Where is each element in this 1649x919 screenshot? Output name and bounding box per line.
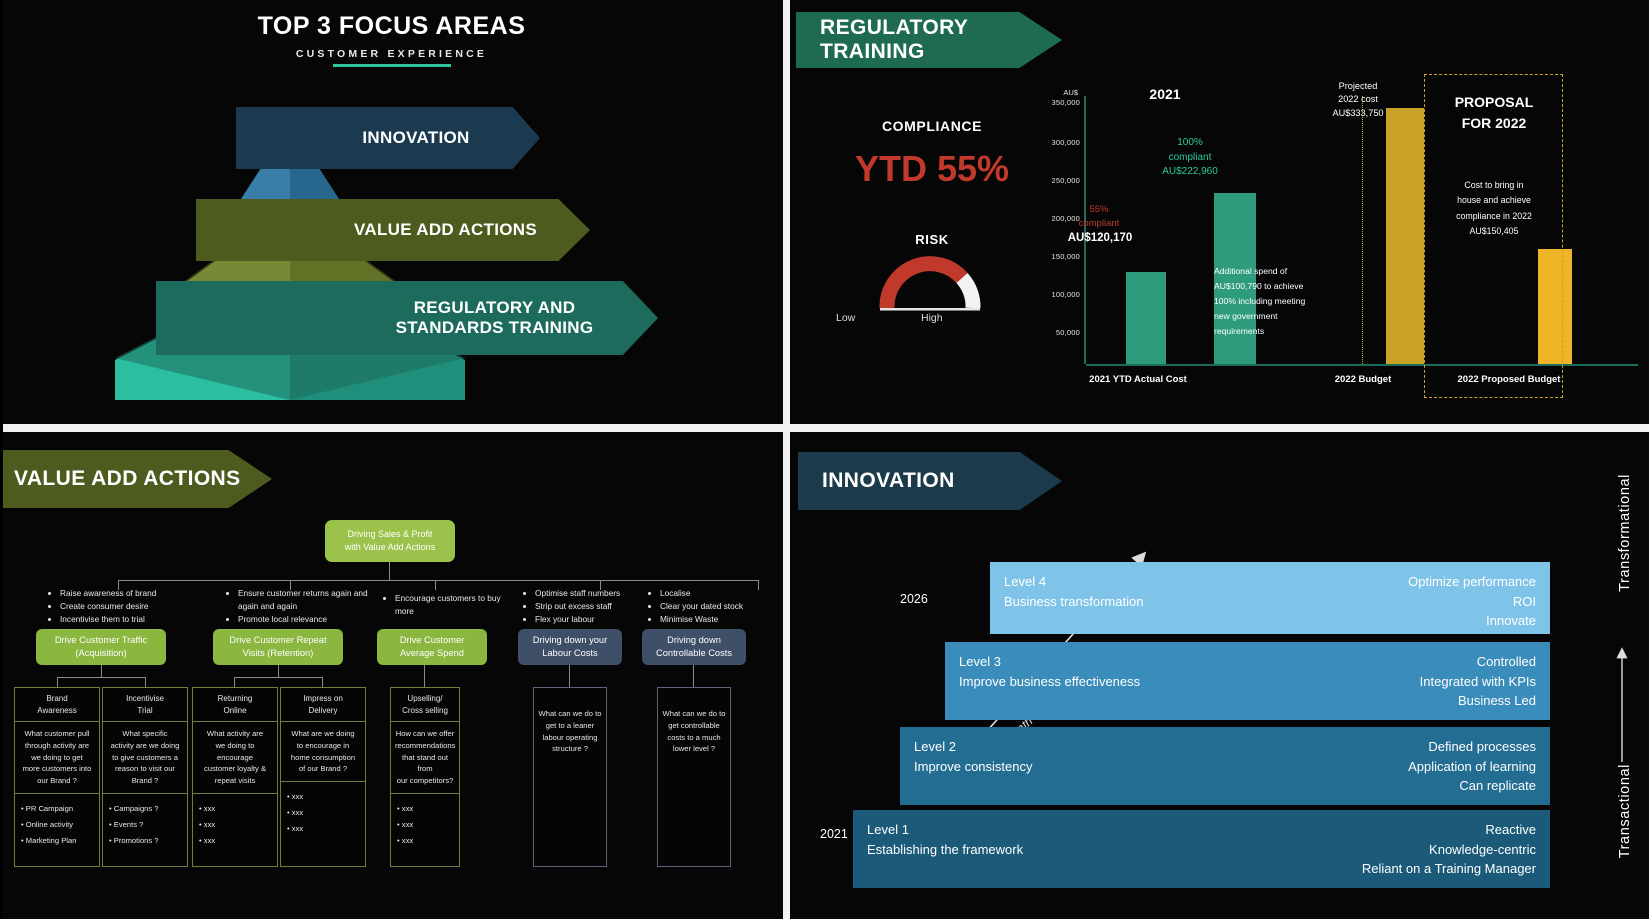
branch-3-bullet-0: Encourage customers to buy more [395,592,505,618]
gauge-high-label: High [921,312,943,324]
pyramid-label-innovation: INNOVATION [236,107,540,169]
category-driving-down-controllable[interactable]: Driving down Controllable Costs [642,629,746,665]
slide-board: TOP 3 FOCUS AREAS CUSTOMER EXPERIENCE R [0,0,1649,919]
category-drive-customer-traffic-label: Drive Customer Traffic (Acquisition) [55,634,147,660]
category-driving-down-labour-label: Driving down your Labour Costs [533,634,607,660]
y-tick-100000: 100,000 [1036,290,1080,299]
maturity-level-2-attr: Defined processes [1408,737,1536,757]
category-drive-repeat-visits[interactable]: Drive Customer Repeat Visits (Retention) [213,629,343,665]
category-drive-average-spend-label: Drive Customer Average Spend [400,634,465,660]
maturity-level-4-desc: Business transformation [1004,592,1143,612]
leaf-labour-question-text: What can we do to get to a leaner labour… [534,688,606,761]
y-axis-unit: AU$ [1063,88,1078,97]
quadrant-innovation: INNOVATION Maturity Path 2026 Level 4 Bu… [790,432,1649,919]
maturity-level-1-attr: Knowledge-centric [1362,840,1536,860]
note-projected-2022: Projected 2022 cost AU$333,750 [1320,80,1396,120]
connector-b3-stem [424,665,425,687]
gauge-low-label: Low [836,312,855,324]
category-drive-customer-traffic[interactable]: Drive Customer Traffic (Acquisition) [36,629,166,665]
maturity-level-3-right: Controlled Integrated with KPIs Business… [1420,652,1536,710]
branch-1-bullet-1: Create consumer desire [60,600,200,613]
category-drive-average-spend[interactable]: Drive Customer Average Spend [377,629,487,665]
branch-3-bullets: Encourage customers to buy more [385,592,505,618]
maturity-level-4-right: Optimize performance ROI Innovate [1408,572,1536,624]
branch-4-bullet-2: Flex your labour [535,613,645,626]
proposal-title: PROPOSAL FOR 2022 [1430,92,1558,134]
gutter-vertical [783,0,790,919]
leaf-item: xxx [287,821,359,837]
leaf-returning-online-items: xxx xxx xxx [193,794,277,856]
leaf-returning-online[interactable]: Returning Online What activity are we do… [192,687,278,867]
leaf-item: xxx [397,817,453,833]
branch-2-bullet-0: Ensure customer returns again and again … [238,587,373,613]
maturity-level-3[interactable]: Level 3 Improve business effectiveness C… [945,642,1550,720]
leaf-upselling-head: Upselling/ Cross selling [391,688,459,722]
maturity-level-1-name: Level 1 [867,820,1023,840]
axis-arrow-icon [1615,644,1629,764]
tree-root-node: Driving Sales & Profit with Value Add Ac… [325,520,455,562]
leaf-impress-on-delivery-head: Impress on Delivery [281,688,365,722]
maturity-level-2-left: Level 2 Improve consistency [914,737,1033,795]
category-driving-down-labour[interactable]: Driving down your Labour Costs [518,629,622,665]
branch-4-bullet-0: Optimise staff numbers [535,587,645,600]
pyramid-diagram: REGULATORY AND STANDARDS TRAINING VALUE … [0,95,783,424]
x-label-2021-actual: 2021 YTD Actual Cost [1058,374,1218,385]
maturity-level-1-right: Reactive Knowledge-centric Reliant on a … [1362,820,1536,878]
note-additional-spend: Additional spend of AU$100,790 to achiev… [1214,264,1334,339]
risk-gauge [830,252,1030,316]
leaf-item: xxx [397,833,453,849]
regulatory-banner-label: REGULATORY TRAINING [820,16,1062,64]
leaf-returning-online-question: What activity are we doing to encourage … [193,722,277,794]
gutter-horizontal [0,424,1649,432]
connector-spine [118,580,758,581]
connector-b1-l [57,677,58,687]
page-title: TOP 3 FOCUS AREAS [0,12,783,41]
maturity-level-1-desc: Establishing the framework [867,840,1023,860]
year-2026: 2026 [900,592,928,606]
chart-year-header: 2021 [1122,84,1208,104]
quadrant-regulatory-training: REGULATORY TRAINING COMPLIANCE YTD 55% R… [790,0,1649,424]
y-tick-250000: 250,000 [1036,176,1080,185]
category-driving-down-controllable-label: Driving down Controllable Costs [656,634,732,660]
leaf-item: xxx [199,801,271,817]
connector-b1-r [145,677,146,687]
tree-root-label: Driving Sales & Profit with Value Add Ac… [345,528,435,554]
leaf-incentivise-trial-items: Campaigns ? Events ? Promotions ? [103,794,187,856]
note-55-value: AU$120,170 [1052,230,1148,247]
branch-5-bullet-1: Clear your dated stock [660,600,775,613]
pyramid-label-regulatory: REGULATORY AND STANDARDS TRAINING [156,281,658,355]
branch-1-bullet-2: Incentivise them to trial [60,613,200,626]
axis-label-transformational: Transformational [1617,474,1633,592]
leaf-upselling-question: How can we offer recommendations that st… [391,722,459,794]
leaf-item: xxx [199,817,271,833]
bar-2021-actual [1126,272,1166,364]
year-2021: 2021 [820,827,848,841]
maturity-level-3-attr: Controlled [1420,652,1536,672]
page-subtitle: CUSTOMER EXPERIENCE [0,48,783,60]
branch-2-bullets: Ensure customer returns again and again … [228,587,373,626]
maturity-level-2[interactable]: Level 2 Improve consistency Defined proc… [900,727,1550,805]
leaf-item: xxx [287,789,359,805]
quadrant-value-add-actions: VALUE ADD ACTIONS Driving Sales & Profit… [0,432,783,919]
maturity-level-3-name: Level 3 [959,652,1140,672]
maturity-level-3-left: Level 3 Improve business effectiveness [959,652,1140,710]
category-drive-repeat-visits-label: Drive Customer Repeat Visits (Retention) [229,634,326,660]
leaf-item: Marketing Plan [21,833,93,849]
note-100-compliant: 100% compliant AU$222,960 [1146,136,1234,180]
chart-divider-1 [1362,96,1363,364]
branch-2-bullet-1: Promote local relevance [238,613,373,626]
risk-label: RISK [832,232,1032,247]
x-label-2022-budget: 2022 Budget [1308,374,1418,385]
maturity-level-1-left: Level 1 Establishing the framework [867,820,1023,878]
y-tick-150000: 150,000 [1036,252,1080,261]
maturity-level-2-name: Level 2 [914,737,1033,757]
proposal-caption: Cost to bring in house and achieve compl… [1430,178,1558,240]
value-add-tree: Driving Sales & Profit with Value Add Ac… [0,432,783,919]
maturity-level-2-right: Defined processes Application of learnin… [1408,737,1536,795]
compliance-label: COMPLIANCE [832,118,1032,134]
leaf-item: xxx [199,833,271,849]
branch-1-bullets: Raise awareness of brand Create consumer… [50,587,200,626]
pyramid-label-regulatory-text: REGULATORY AND STANDARDS TRAINING [396,298,594,338]
leaf-item: Events ? [109,817,181,833]
leaf-brand-awareness-head: Brand Awareness [15,688,99,722]
maturity-level-4-attr: Innovate [1408,611,1536,631]
maturity-level-1-attr: Reactive [1362,820,1536,840]
maturity-level-3-attr: Integrated with KPIs [1420,672,1536,692]
connector-b2-l [234,677,235,687]
leaf-item: Promotions ? [109,833,181,849]
leaf-upselling[interactable]: Upselling/ Cross selling How can we offe… [390,687,460,867]
branch-5-bullets: Localise Clear your dated stock Minimise… [650,587,775,626]
y-tick-300000: 300,000 [1036,138,1080,147]
maturity-level-2-attr: Can replicate [1408,776,1536,796]
branch-4-bullet-1: Strip out excess staff [535,600,645,613]
maturity-level-4-attr: ROI [1408,592,1536,612]
maturity-level-4-name: Level 4 [1004,572,1143,592]
maturity-level-4-left: Level 4 Business transformation [1004,572,1143,624]
leaf-item: PR Campaign [21,801,93,817]
maturity-level-2-attr: Application of learning [1408,757,1536,777]
connector-b5-stem [693,665,694,687]
leaf-incentivise-trial-question: What specific activity are we doing to g… [103,722,187,794]
connector-b1-stem [101,665,102,677]
regulatory-banner: REGULATORY TRAINING [796,12,1062,68]
ytd-value: YTD 55% [812,148,1052,190]
connector-b1-bar [57,677,145,678]
leaf-controllable-question-text: What can we do to get controllable costs… [658,688,730,761]
leaf-item: Online activity [21,817,93,833]
leaf-impress-on-delivery-items: xxx xxx xxx [281,782,365,844]
maturity-level-1-attr: Reliant on a Training Manager [1362,859,1536,879]
pyramid-label-value-add: VALUE ADD ACTIONS [196,199,590,261]
y-tick-50000: 50,000 [1036,328,1080,337]
leaf-brand-awareness-question: What customer pull through activity are … [15,722,99,794]
note-55-compliant: 55% compliant [1062,203,1136,231]
branch-1-bullet-0: Raise awareness of brand [60,587,200,600]
branch-5-bullet-2: Minimise Waste [660,613,775,626]
leaf-brand-awareness[interactable]: Brand Awareness What customer pull throu… [14,687,100,867]
maturity-level-3-attr: Business Led [1420,691,1536,711]
leaf-upselling-items: xxx xxx xxx [391,794,459,856]
branch-4-bullets: Optimise staff numbers Strip out excess … [525,587,645,626]
y-tick-350000: 350,000 [1036,98,1080,107]
maturity-level-1[interactable]: Level 1 Establishing the framework React… [853,810,1550,888]
leaf-incentivise-trial-head: Incentivise Trial [103,688,187,722]
pyramid-label-value-add-text: VALUE ADD ACTIONS [354,220,537,240]
leaf-impress-on-delivery[interactable]: Impress on Delivery What are we doing to… [280,687,366,867]
connector-root-stem [389,562,390,580]
leaf-incentivise-trial[interactable]: Incentivise Trial What specific activity… [102,687,188,867]
leaf-impress-on-delivery-question: What are we doing to encourage in home c… [281,722,365,782]
connector-b2-r [322,677,323,687]
leaf-labour-question[interactable]: What can we do to get to a leaner labour… [533,687,607,867]
connector-drop-3 [435,580,436,590]
maturity-level-4[interactable]: Level 4 Business transformation Optimize… [990,562,1550,634]
leaf-item: xxx [397,801,453,817]
leaf-item: Campaigns ? [109,801,181,817]
pyramid-label-innovation-text: INNOVATION [362,128,469,148]
quadrant-focus-areas: TOP 3 FOCUS AREAS CUSTOMER EXPERIENCE R [0,0,783,424]
connector-b2-bar [234,677,322,678]
bar-2022-budget [1386,108,1424,364]
maturity-level-2-desc: Improve consistency [914,757,1033,777]
leaf-item: xxx [287,805,359,821]
leaf-controllable-question[interactable]: What can we do to get controllable costs… [657,687,731,867]
title-underline [333,64,451,67]
edge-left [0,0,3,919]
maturity-level-3-desc: Improve business effectiveness [959,672,1140,692]
leaf-returning-online-head: Returning Online [193,688,277,722]
axis-label-transactional: Transactional [1617,764,1633,858]
connector-b4-stem [569,665,570,687]
leaf-brand-awareness-items: PR Campaign Online activity Marketing Pl… [15,794,99,856]
connector-b2-stem [278,665,279,677]
maturity-level-4-attr: Optimize performance [1408,572,1536,592]
branch-5-bullet-0: Localise [660,587,775,600]
